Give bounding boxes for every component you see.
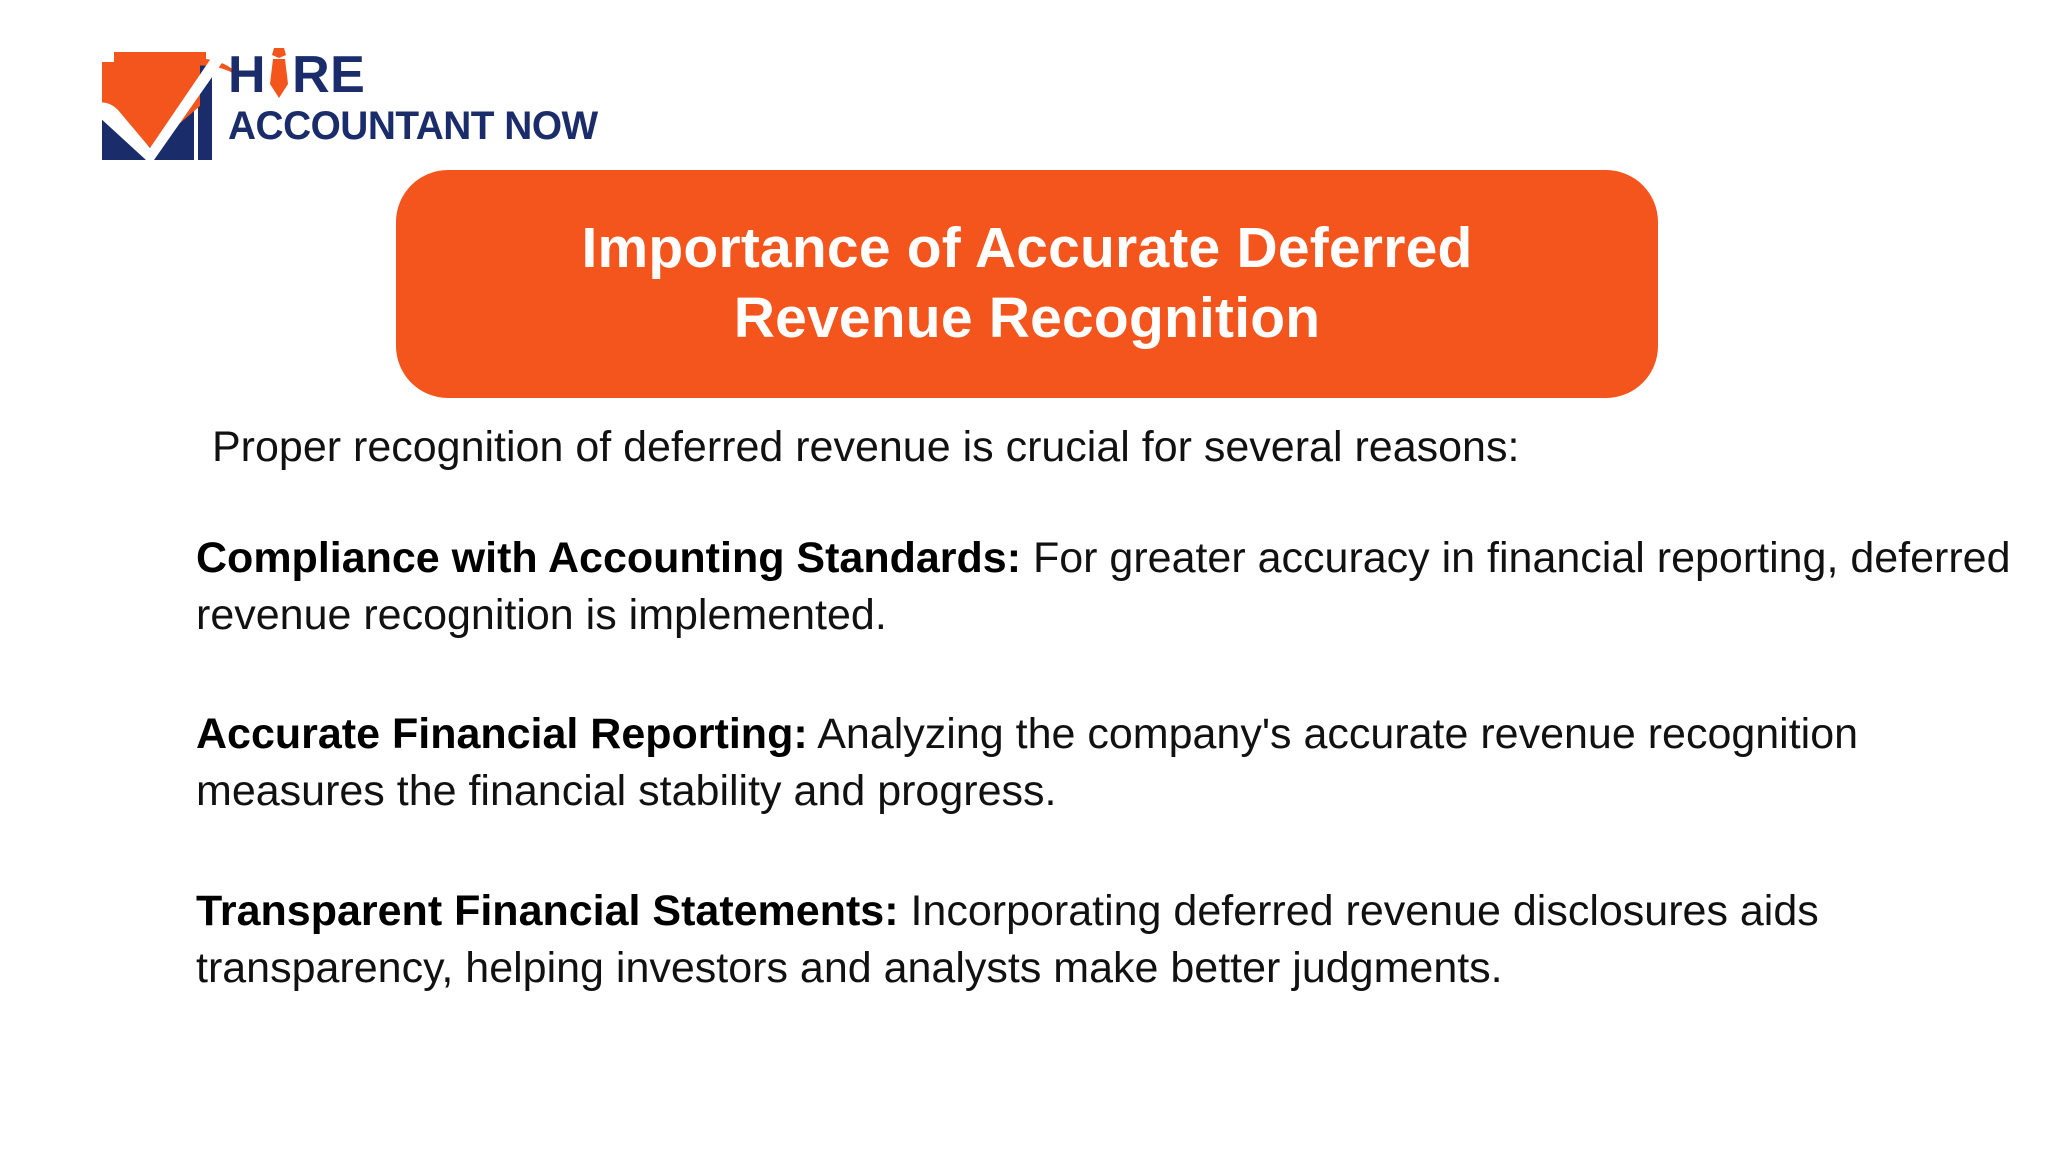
intro-paragraph: Proper recognition of deferred revenue i… [196, 420, 2016, 476]
point-compliance: Compliance with Accounting Standards: Fo… [196, 530, 2016, 644]
point-transparent-statements-lead: Transparent Financial Statements: [196, 887, 899, 935]
point-accurate-reporting-lead: Accurate Financial Reporting: [196, 710, 808, 758]
brand-logo[interactable]: H RE ACCOUNTANT NOW [88, 40, 588, 162]
brand-name-hire-pre: H [228, 46, 266, 104]
title-line-2: Revenue Recognition [734, 284, 1321, 354]
title-banner: Importance of Accurate Deferred Revenue … [396, 170, 1658, 398]
title-line-1: Importance of Accurate Deferred [581, 214, 1472, 284]
body-content: Proper recognition of deferred revenue i… [196, 420, 2016, 997]
point-transparent-statements: Transparent Financial Statements: Incorp… [196, 883, 2016, 997]
point-accurate-reporting: Accurate Financial Reporting: Analyzing … [196, 706, 2016, 820]
point-compliance-lead: Compliance with Accounting Standards: [196, 534, 1021, 582]
brand-wordmark: H RE ACCOUNTANT NOW [228, 46, 588, 158]
brand-name-hire: H RE [228, 46, 365, 102]
clipboard-checkmark-icon [88, 44, 236, 160]
brand-name-hire-post: RE [292, 46, 365, 104]
slide-canvas: H RE ACCOUNTANT NOW Importance of Accura… [0, 0, 2048, 1152]
brand-name-accountant-now: ACCOUNTANT NOW [228, 102, 598, 150]
necktie-icon [266, 46, 292, 98]
